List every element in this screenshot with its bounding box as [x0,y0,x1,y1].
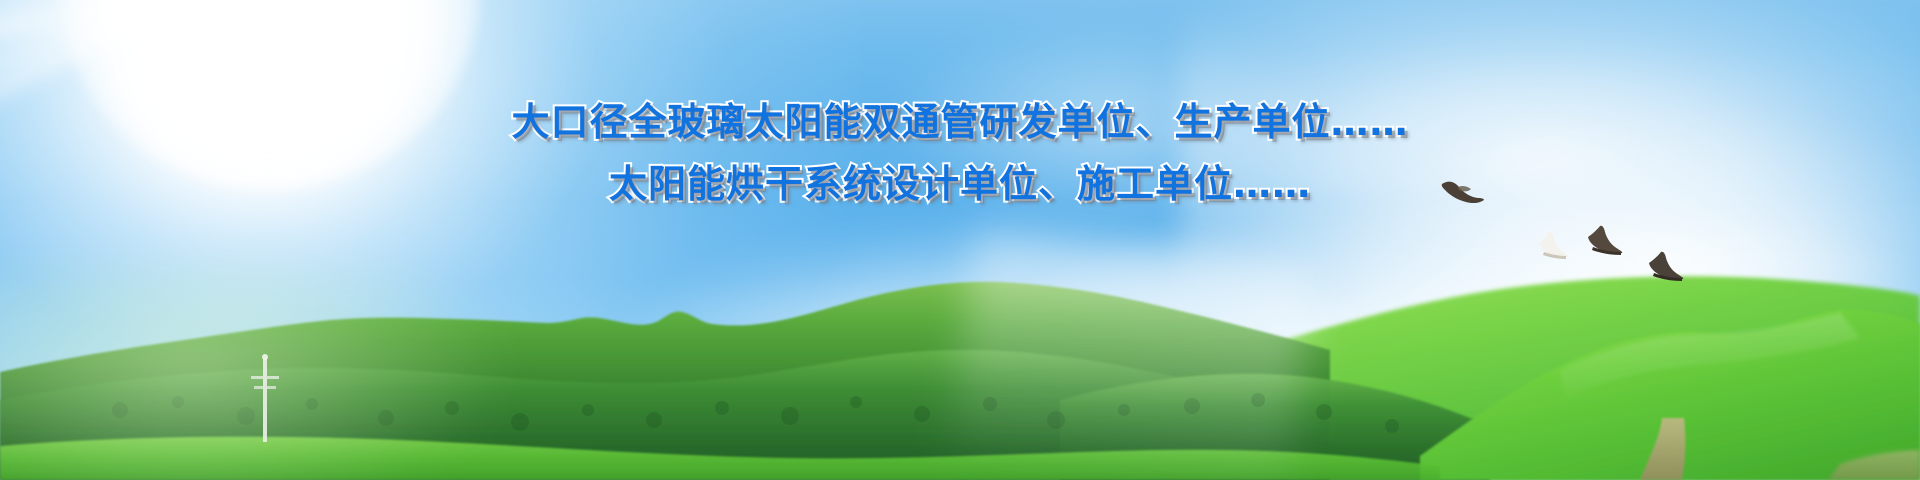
bird-2-icon [1532,230,1574,264]
headline-line-2: 太阳能烘干系统设计单位、施工单位…… [0,162,1920,206]
bird-4-icon [1640,250,1686,286]
promo-banner: 大口径全玻璃太阳能双通管研发单位、生产单位…… 太阳能烘干系统设计单位、施工单位… [0,0,1920,480]
headline-line-1: 大口径全玻璃太阳能双通管研发单位、生产单位…… [0,100,1920,144]
bird-3-icon [1580,224,1626,260]
birds-group [0,0,1920,480]
